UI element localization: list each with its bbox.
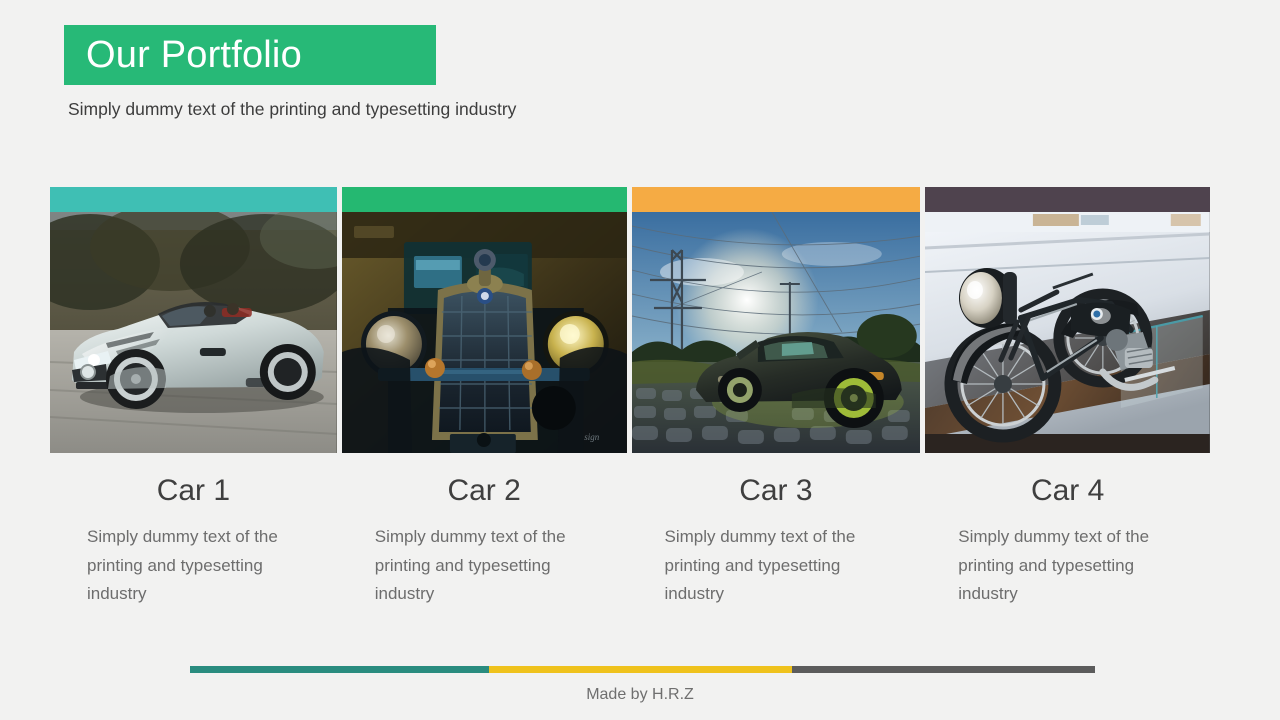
card-3-accent-bar <box>632 187 921 212</box>
portfolio-card-4-caption: Car 4 Simply dummy text of the printing … <box>925 470 1210 609</box>
portfolio-card-4-media[interactable] <box>925 187 1210 453</box>
portfolio-card-1-caption: Car 1 Simply dummy text of the printing … <box>50 470 337 609</box>
card-2-title: Car 2 <box>342 470 627 507</box>
portfolio-card-1-media[interactable] <box>50 187 337 453</box>
progress-segment-yellow <box>489 666 792 673</box>
card-1-title: Car 1 <box>50 470 337 507</box>
card-4-image-art <box>925 212 1210 453</box>
card-2-accent-bar <box>342 187 627 212</box>
footer-progress-bar <box>190 666 1095 673</box>
portfolio-captions-row: Car 1 Simply dummy text of the printing … <box>50 470 1210 609</box>
vintage-car-grille-photo[interactable]: sign <box>342 212 627 453</box>
card-4-title: Car 4 <box>925 470 1210 507</box>
page-subtitle: Simply dummy text of the printing and ty… <box>68 99 516 120</box>
title-banner: Our Portfolio <box>64 25 436 85</box>
card-3-title: Car 3 <box>632 470 921 507</box>
portfolio-card-3-media[interactable] <box>632 187 921 453</box>
footer-credit: Made by H.R.Z <box>0 686 1280 704</box>
porsche-on-cobblestone-photo[interactable] <box>632 212 921 453</box>
card-3-body: Simply dummy text of the printing and ty… <box>632 523 907 609</box>
card-1-body: Simply dummy text of the printing and ty… <box>50 523 329 609</box>
page-title: Our Portfolio <box>86 36 302 74</box>
portfolio-card-2-caption: Car 2 Simply dummy text of the printing … <box>342 470 627 609</box>
portfolio-card-2-media[interactable]: sign <box>342 187 627 453</box>
card-1-image-art <box>50 212 337 453</box>
silver-convertible-sports-car-photo[interactable] <box>50 212 337 453</box>
card-4-accent-bar <box>925 187 1210 212</box>
portfolio-cards-row: sign <box>50 187 1210 453</box>
card-2-body: Simply dummy text of the printing and ty… <box>342 523 617 609</box>
card-1-accent-bar <box>50 187 337 212</box>
portfolio-card-3-caption: Car 3 Simply dummy text of the printing … <box>632 470 921 609</box>
svg-text:sign: sign <box>584 432 599 442</box>
card-3-image-art <box>632 212 921 453</box>
card-4-body: Simply dummy text of the printing and ty… <box>925 523 1200 609</box>
card-2-image-art: sign <box>342 212 627 453</box>
progress-segment-teal <box>190 666 489 673</box>
progress-segment-gray <box>792 666 1095 673</box>
vintage-motorcycle-photo[interactable] <box>925 212 1210 453</box>
